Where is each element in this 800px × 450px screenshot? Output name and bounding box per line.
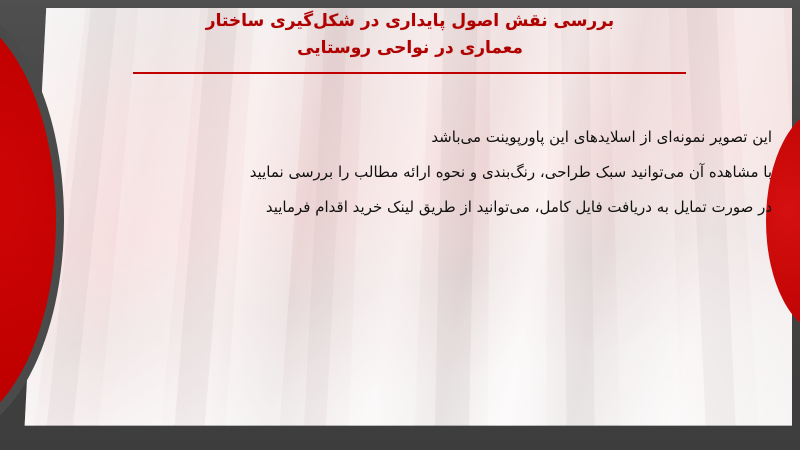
title-divider-rule bbox=[133, 72, 686, 74]
slide-title: بررسی نقش اصول پایداری در شکل‌گیری ساختا… bbox=[130, 8, 690, 62]
slide-body-line-1: این تصویر نمونه‌ای از اسلایدهای این پاور… bbox=[82, 120, 772, 155]
slide-body-text: این تصویر نمونه‌ای از اسلایدهای این پاور… bbox=[82, 120, 772, 225]
presentation-slide: بررسی نقش اصول پایداری در شکل‌گیری ساختا… bbox=[0, 0, 800, 450]
slide-title-line-1: بررسی نقش اصول پایداری در شکل‌گیری ساختا… bbox=[130, 8, 690, 35]
slide-body-line-2: با مشاهده آن می‌توانید سبک طراحی، رنگ‌بن… bbox=[82, 155, 772, 190]
slide-title-line-2: معماری در نواحی روستایی bbox=[130, 35, 690, 62]
slide-body-line-3: در صورت تمایل به دریافت فایل کامل، می‌تو… bbox=[82, 190, 772, 225]
